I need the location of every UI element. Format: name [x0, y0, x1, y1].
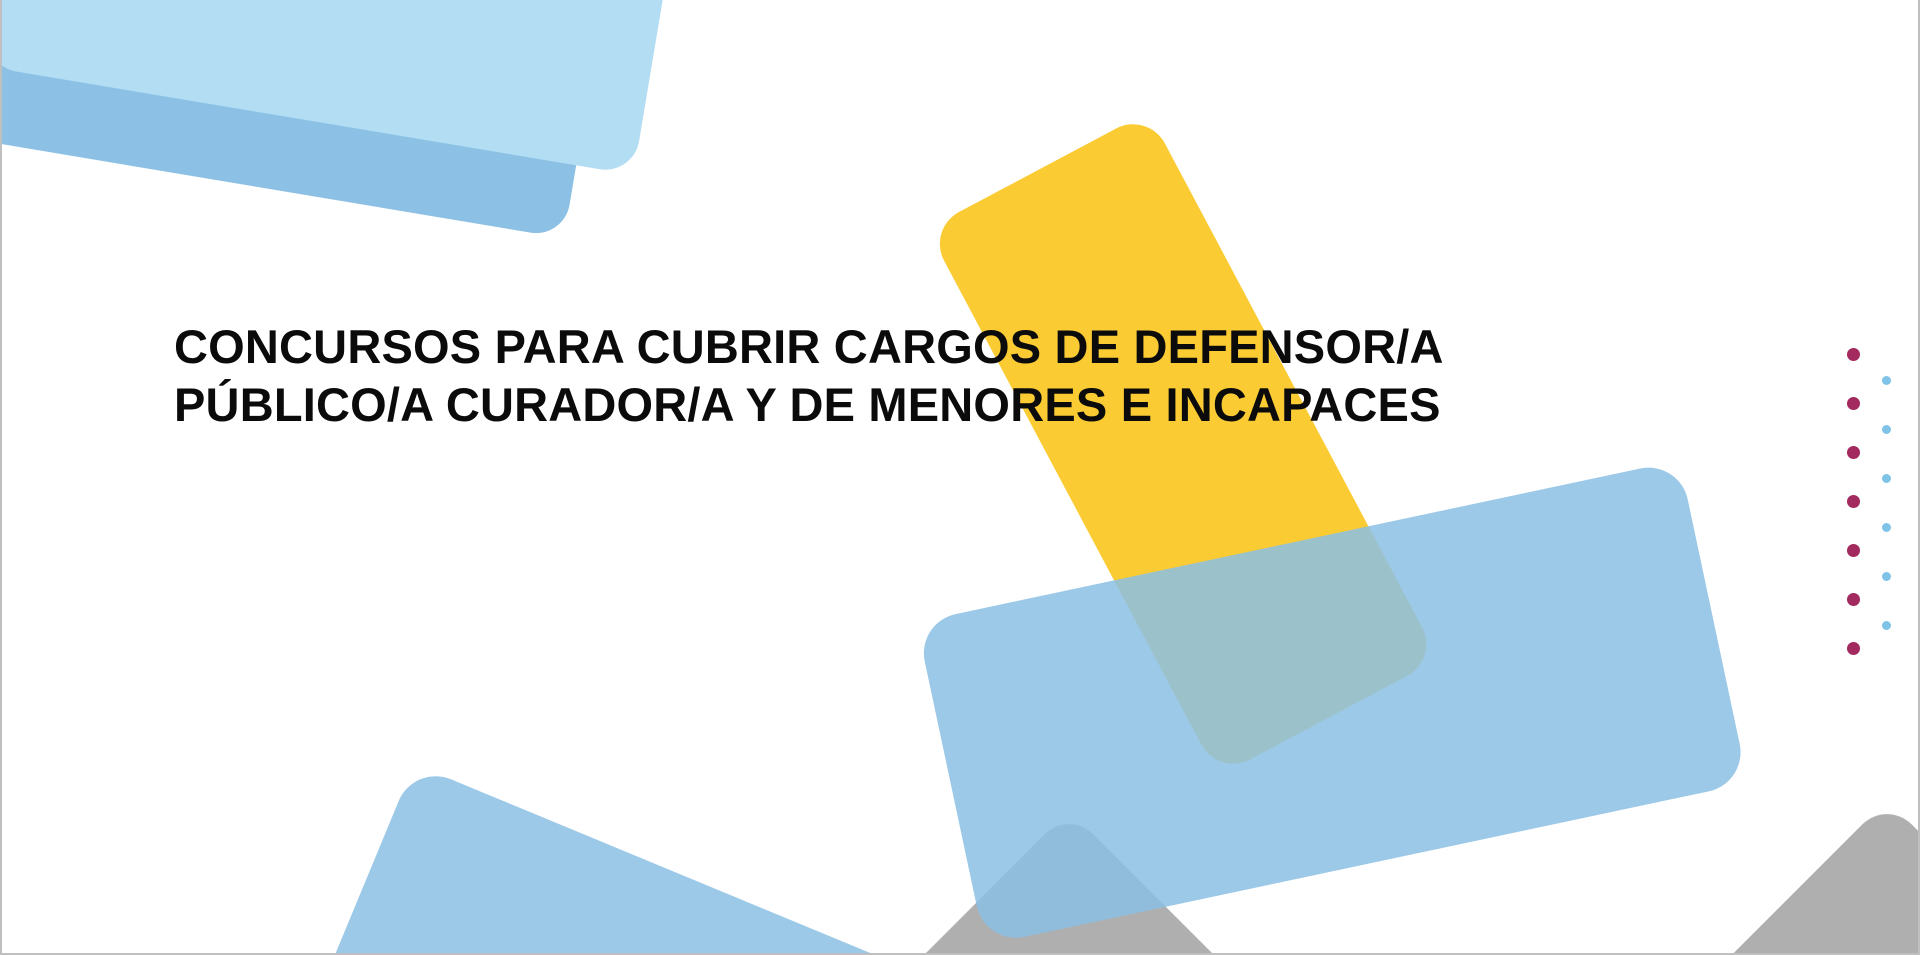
- title-line-2: PÚBLICO/A CURADOR/A Y DE MENORES E INCAP…: [174, 376, 1424, 434]
- page-title: CONCURSOS PARA CUBRIR CARGOS DE DEFENSOR…: [174, 318, 1424, 434]
- bottom-decoration-group: [2, 0, 1920, 955]
- blue-dot-icon: [1882, 572, 1891, 581]
- crimson-dot-icon: [1847, 397, 1860, 410]
- crimson-dot-icon: [1847, 495, 1860, 508]
- blue-dot-icon: [1882, 474, 1891, 483]
- blue-dot-icon: [1882, 425, 1891, 434]
- crimson-dot-icon: [1847, 642, 1860, 655]
- crimson-dot-icon: [1847, 593, 1860, 606]
- blue-dot-icon: [1882, 621, 1891, 630]
- blue-dot-icon: [1882, 376, 1891, 385]
- crimson-dot-icon: [1847, 544, 1860, 557]
- crimson-dot-icon: [1847, 348, 1860, 361]
- blue-dot-icon: [1882, 523, 1891, 532]
- dot-column-decoration: [1838, 336, 1908, 656]
- shape-gray-corner: [1647, 800, 1920, 955]
- crimson-dot-icon: [1847, 446, 1860, 459]
- slide-canvas: CONCURSOS PARA CUBRIR CARGOS DE DEFENSOR…: [0, 0, 1920, 955]
- title-line-1: CONCURSOS PARA CUBRIR CARGOS DE DEFENSOR…: [174, 318, 1424, 376]
